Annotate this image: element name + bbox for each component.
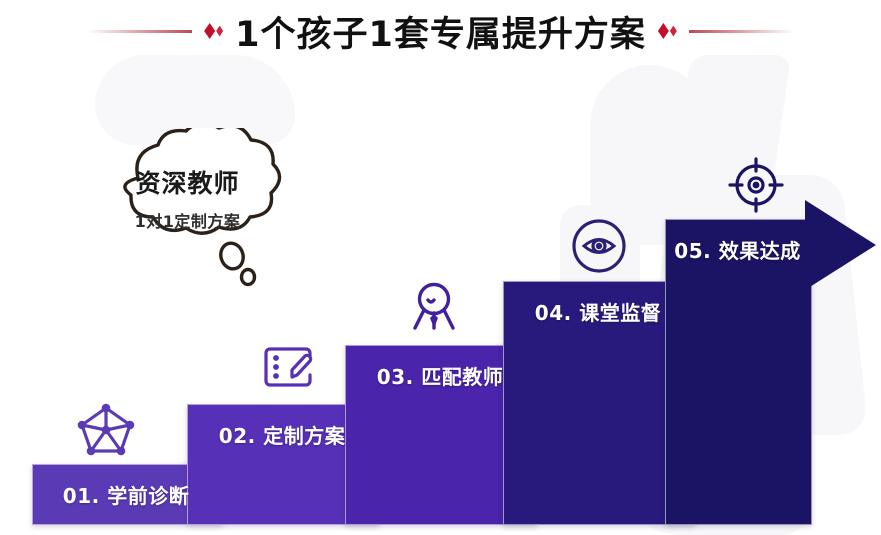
step-05[interactable]: 05. 效果达成 — [665, 219, 810, 523]
bubble-subtitle: 1对1定制方案 — [80, 208, 295, 232]
bubble-text: 资深教师 1对1定制方案 — [80, 164, 295, 232]
eye-monitor-icon — [571, 218, 627, 274]
right-arrow-icon — [805, 200, 876, 290]
step-03-label: 03. 匹配教师 — [345, 345, 535, 405]
step-02-label: 02. 定制方案 — [187, 404, 377, 464]
bubble-title: 资深教师 — [80, 164, 295, 200]
crosshair-target-icon — [728, 157, 784, 213]
teacher-person-icon — [409, 281, 459, 333]
step-01-label: 01. 学前诊断 — [32, 464, 220, 524]
step-04-label: 04. 课堂监督 — [503, 281, 693, 341]
thought-bubble: 资深教师 1对1定制方案 — [80, 128, 295, 288]
step-01[interactable]: 01. 学前诊断 — [32, 464, 220, 523]
step-05-label: 05. 效果达成 — [665, 219, 810, 279]
clipboard-pencil-icon — [262, 343, 314, 393]
pentagon-network-icon — [75, 400, 137, 458]
